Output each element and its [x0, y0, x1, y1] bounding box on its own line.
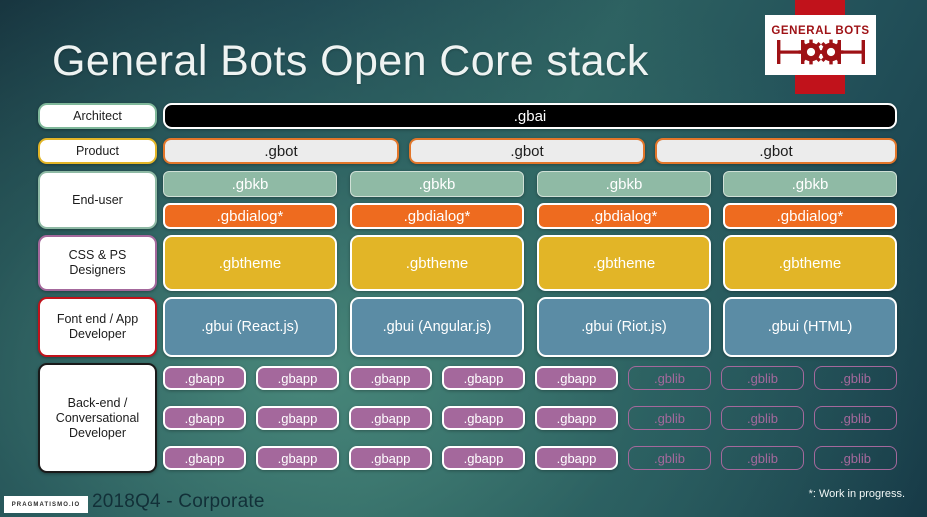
stack-cell-gbui-riot[interactable]: .gbui (Riot.js) [537, 297, 711, 357]
work-in-progress-note: *: Work in progress. [809, 488, 905, 500]
stack-cell-label: .gbdialog* [591, 208, 658, 225]
stack-cell-label: .gbot [510, 143, 543, 160]
stack-cell-label: .gbkb [419, 176, 456, 193]
stack-cell-label: .gblib [747, 450, 778, 467]
stack-cell-label: .gbai [514, 108, 547, 125]
stack-cell-label: .gbot [264, 143, 297, 160]
stack-cell-label: .gblib [654, 370, 685, 387]
stack-cell-label: .gbtheme [593, 255, 656, 272]
stack-cell-gbapp[interactable]: .gbapp [442, 366, 525, 390]
role-label-text: CSS & PS Designers [69, 248, 127, 278]
stack-cell-gbapp[interactable]: .gbapp [256, 406, 339, 430]
stack-cell-gblib[interactable]: .gblib [628, 366, 711, 390]
pragmatismo-logo: PRAGMATISMO.IO [4, 496, 88, 513]
stack-cell-label: .gbapp [371, 410, 411, 427]
stack-cell-gbtheme-3[interactable]: .gbtheme [537, 235, 711, 291]
stack-cell-label: .gbtheme [406, 255, 469, 272]
role-label-back-end-conversational-developer: Back-end / Conversational Developer [38, 363, 157, 473]
stack-cell-gbot-3[interactable]: .gbot [655, 138, 897, 164]
stack-cell-label: .gblib [840, 410, 871, 427]
role-label-text: Architect [73, 109, 122, 124]
stack-cell-label: .gblib [747, 370, 778, 387]
stack-cell-label: .gbkb [232, 176, 269, 193]
role-label-text: Product [76, 144, 119, 159]
stack-cell-gbdialog-2[interactable]: .gbdialog* [350, 203, 524, 229]
pragmatismo-logo-text: PRAGMATISMO.IO [12, 502, 81, 508]
stack-cell-gbkb-1[interactable]: .gbkb [163, 171, 337, 197]
stack-cell-gbapp[interactable]: .gbapp [349, 366, 432, 390]
role-label-end-user: End-user [38, 171, 157, 229]
stack-cell-label: .gbkb [792, 176, 829, 193]
stack-cell-label: .gbdialog* [777, 208, 844, 225]
stack-cell-gbdialog-1[interactable]: .gbdialog* [163, 203, 337, 229]
role-label-product: Product [38, 138, 157, 164]
stack-cell-gbkb-4[interactable]: .gbkb [723, 171, 897, 197]
stack-cell-label: .gbdialog* [217, 208, 284, 225]
stack-cell-gbot-1[interactable]: .gbot [163, 138, 399, 164]
stack-cell-gbapp[interactable]: .gbapp [442, 406, 525, 430]
slide-canvas: General Bots Open Core stack GENERAL BOT… [0, 0, 927, 517]
stack-cell-label: .gbapp [464, 450, 504, 467]
stack-cell-gbtheme-4[interactable]: .gbtheme [723, 235, 897, 291]
stack-cell-gbapp[interactable]: .gbapp [442, 446, 525, 470]
stack-cell-label: .gbdialog* [404, 208, 471, 225]
stack-diagram: Architect Product End-user CSS & PS Desi… [0, 0, 927, 517]
stack-cell-label: .gbui (HTML) [768, 319, 853, 336]
stack-cell-gbapp[interactable]: .gbapp [535, 366, 618, 390]
stack-cell-gblib[interactable]: .gblib [721, 406, 804, 430]
stack-cell-gblib[interactable]: .gblib [721, 446, 804, 470]
stack-cell-gbui-angular[interactable]: .gbui (Angular.js) [350, 297, 524, 357]
stack-cell-label: .gbapp [185, 410, 225, 427]
stack-cell-gbapp[interactable]: .gbapp [349, 446, 432, 470]
stack-cell-label: .gbapp [371, 450, 411, 467]
stack-cell-label: .gbot [759, 143, 792, 160]
stack-cell-gblib[interactable]: .gblib [814, 406, 897, 430]
stack-cell-gbapp[interactable]: .gbapp [256, 446, 339, 470]
stack-cell-label: .gbtheme [779, 255, 842, 272]
stack-cell-gbapp[interactable]: .gbapp [256, 366, 339, 390]
stack-cell-label: .gbapp [557, 410, 597, 427]
stack-cell-label: .gblib [840, 370, 871, 387]
stack-cell-label: .gblib [747, 410, 778, 427]
stack-cell-label: .gbapp [464, 410, 504, 427]
stack-cell-label: .gbtheme [219, 255, 282, 272]
role-label-front-end-app-developer: Font end / App Developer [38, 297, 157, 357]
stack-cell-gbkb-2[interactable]: .gbkb [350, 171, 524, 197]
stack-cell-gbui-html[interactable]: .gbui (HTML) [723, 297, 897, 357]
stack-cell-gbtheme-2[interactable]: .gbtheme [350, 235, 524, 291]
stack-cell-label: .gbapp [464, 370, 504, 387]
stack-cell-label: .gblib [654, 450, 685, 467]
stack-cell-label: .gbui (Riot.js) [581, 319, 666, 336]
stack-cell-gbot-2[interactable]: .gbot [409, 138, 645, 164]
stack-cell-gbdialog-3[interactable]: .gbdialog* [537, 203, 711, 229]
stack-cell-gblib[interactable]: .gblib [721, 366, 804, 390]
stack-cell-label: .gbapp [278, 450, 318, 467]
stack-cell-gbkb-3[interactable]: .gbkb [537, 171, 711, 197]
stack-cell-gbui-react[interactable]: .gbui (React.js) [163, 297, 337, 357]
stack-cell-label: .gblib [654, 410, 685, 427]
stack-cell-label: .gblib [840, 450, 871, 467]
role-label-css-ps-designers: CSS & PS Designers [38, 235, 157, 291]
stack-cell-gbai[interactable]: .gbai [163, 103, 897, 129]
role-label-text: End-user [72, 193, 123, 208]
stack-cell-label: .gbapp [278, 370, 318, 387]
stack-cell-label: .gbui (Angular.js) [383, 319, 492, 336]
role-label-text: Font end / App Developer [57, 312, 138, 342]
stack-cell-gbapp[interactable]: .gbapp [535, 406, 618, 430]
stack-cell-label: .gbapp [557, 370, 597, 387]
stack-cell-label: .gbkb [606, 176, 643, 193]
stack-cell-gbapp[interactable]: .gbapp [163, 366, 246, 390]
stack-cell-gbapp[interactable]: .gbapp [163, 406, 246, 430]
stack-cell-gblib[interactable]: .gblib [628, 446, 711, 470]
footer-caption: 2018Q4 - Corporate [92, 491, 265, 513]
stack-cell-gbapp[interactable]: .gbapp [535, 446, 618, 470]
role-label-text: Back-end / Conversational Developer [56, 396, 139, 441]
stack-cell-gbtheme-1[interactable]: .gbtheme [163, 235, 337, 291]
stack-cell-gblib[interactable]: .gblib [628, 406, 711, 430]
stack-cell-gbdialog-4[interactable]: .gbdialog* [723, 203, 897, 229]
stack-cell-label: .gbapp [371, 370, 411, 387]
stack-cell-label: .gbapp [185, 370, 225, 387]
stack-cell-label: .gbapp [557, 450, 597, 467]
stack-cell-gbapp[interactable]: .gbapp [349, 406, 432, 430]
stack-cell-gbapp[interactable]: .gbapp [163, 446, 246, 470]
stack-cell-label: .gbapp [185, 450, 225, 467]
stack-cell-gblib[interactable]: .gblib [814, 446, 897, 470]
stack-cell-label: .gbui (React.js) [201, 319, 299, 336]
role-label-architect: Architect [38, 103, 157, 129]
stack-cell-label: .gbapp [278, 410, 318, 427]
stack-cell-gblib[interactable]: .gblib [814, 366, 897, 390]
